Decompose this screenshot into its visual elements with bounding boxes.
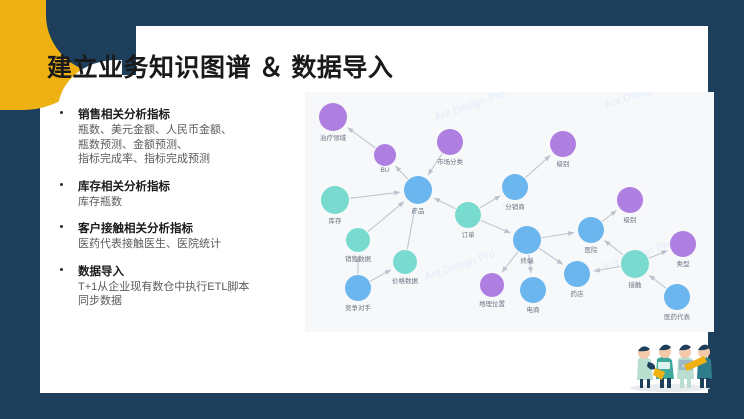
graph-node-jiage[interactable] (393, 250, 417, 274)
graph-edge (350, 192, 400, 198)
graph-node-daibiao[interactable] (664, 284, 690, 310)
bullet-body-text: 医药代表接触医生、医院统计 (78, 237, 300, 252)
graph-node-jiechu[interactable] (621, 250, 649, 278)
graph-edge (348, 128, 376, 148)
graph-node-yaodian[interactable] (564, 261, 590, 287)
graph-node-label: 接触 (629, 279, 642, 289)
graph-node-dingdan[interactable] (455, 202, 481, 228)
bullet-heading: 客户接触相关分析指标 (78, 222, 300, 237)
graph-node-label: 电商 (527, 304, 540, 314)
graph-edge (502, 252, 518, 273)
graph-node-label: 市场分类 (437, 156, 463, 166)
slide-canvas: 建立业务知识图谱 ＆ 数据导入 销售相关分析指标瓶数、美元金额、人民币金额、 瓶… (0, 0, 744, 419)
graph-node-label: 销售数据 (345, 253, 371, 263)
graph-node-label: 产品 (412, 205, 425, 215)
graph-node-shichang[interactable] (437, 129, 463, 155)
graph-edge (525, 155, 550, 177)
graph-node-label: 级别 (557, 158, 570, 168)
graph-node-leixing[interactable] (670, 231, 696, 257)
graph-edge (368, 202, 404, 232)
graph-node-label: 价格数据 (392, 275, 418, 285)
graph-edge (395, 166, 407, 179)
graph-node-label: 订单 (462, 229, 475, 239)
graph-node-jibie1[interactable] (550, 131, 576, 157)
graph-node-label: 医药代表 (664, 311, 690, 321)
graph-node-yiyuan[interactable] (578, 217, 604, 243)
people-illustration: </> (624, 331, 714, 393)
graph-node-bu[interactable] (374, 144, 396, 166)
graph-edge (649, 275, 666, 288)
bullet-body-text: 库存瓶数 (78, 195, 300, 210)
bullet-item: 数据导入T+1从企业现有数仓中执行ETL脚本 同步数据 (60, 265, 300, 309)
graph-node-label: 医院 (585, 244, 598, 254)
bullet-list: 销售相关分析指标瓶数、美元金额、人民币金额、 瓶数预测、金额预测、 指标完成率、… (60, 108, 300, 322)
bullet-heading: 数据导入 (78, 265, 300, 280)
graph-node-label: 药店 (571, 288, 584, 298)
bullet-heading: 销售相关分析指标 (78, 108, 300, 123)
graph-node-chanpin[interactable] (404, 176, 432, 204)
graph-node-jibie2[interactable] (617, 187, 643, 213)
graph-edge (594, 267, 620, 272)
graph-edge (434, 198, 455, 209)
graph-node-dianshang[interactable] (520, 277, 546, 303)
bullet-item: 库存相关分析指标库存瓶数 (60, 180, 300, 210)
bullet-dot-icon (60, 183, 63, 186)
bullet-dot-icon (60, 111, 63, 114)
graph-edge (542, 233, 574, 238)
bullet-dot-icon (60, 268, 63, 271)
graph-node-label: 地理位置 (479, 298, 505, 308)
graph-node-kucun[interactable] (321, 186, 349, 214)
graph-node-jingzheng[interactable] (345, 275, 371, 301)
knowledge-graph-panel[interactable]: Ant Design ProAnt Design ProAnt Design P… (305, 92, 714, 332)
graph-node-zhongduan[interactable] (513, 226, 541, 254)
graph-edge (481, 220, 511, 233)
graph-edge (649, 251, 667, 259)
graph-node-label: 类型 (677, 258, 690, 268)
graph-node-label: 库存 (329, 215, 342, 225)
graph-node-xiaoshou[interactable] (346, 228, 370, 252)
graph-edge (480, 196, 500, 208)
bullet-body-text: T+1从企业现有数仓中执行ETL脚本 同步数据 (78, 280, 300, 309)
graph-edge (539, 248, 563, 264)
graph-node-label: 分销商 (505, 201, 525, 211)
graph-node-label: 竞争对手 (345, 302, 371, 312)
graph-edge (604, 240, 623, 254)
graph-edge (370, 270, 391, 281)
graph-edge (602, 210, 616, 221)
graph-node-label: 终端 (521, 255, 534, 265)
graph-node-label: BU (380, 167, 389, 174)
bottom-navy-band (0, 393, 744, 419)
graph-node-label: 级别 (624, 214, 637, 224)
bullet-dot-icon (60, 225, 63, 228)
bullet-heading: 库存相关分析指标 (78, 180, 300, 195)
page-title: 建立业务知识图谱 ＆ 数据导入 (47, 48, 393, 84)
graph-node-diliweizhi[interactable] (480, 273, 504, 297)
graph-node-label: 治疗领域 (320, 132, 346, 142)
graph-node-fenxiao[interactable] (502, 174, 528, 200)
bullet-item: 销售相关分析指标瓶数、美元金额、人民币金额、 瓶数预测、金额预测、 指标完成率、… (60, 108, 300, 167)
graph-node-zhiliao[interactable] (319, 103, 347, 131)
bullet-item: 客户接触相关分析指标医药代表接触医生、医院统计 (60, 222, 300, 252)
bullet-body-text: 瓶数、美元金额、人民币金额、 瓶数预测、金额预测、 指标完成率、指标完成预测 (78, 123, 300, 167)
